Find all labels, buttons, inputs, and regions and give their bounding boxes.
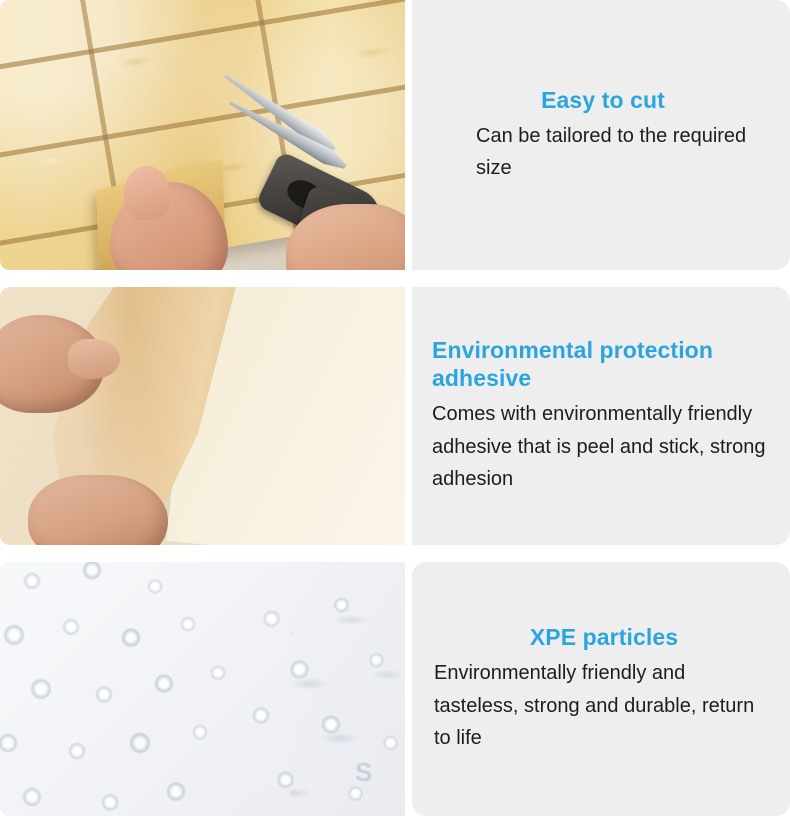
feature-text-card-adhesive: Environmental protection adhesive Comes …	[412, 287, 790, 545]
feature-text-card-easy-to-cut: Easy to cut Can be tailored to the requi…	[412, 0, 790, 270]
product-feature-page: Easy to cut Can be tailored to the requi…	[0, 0, 790, 816]
feature-row-easy-to-cut: Easy to cut Can be tailored to the requi…	[0, 0, 790, 270]
scattered-pellets	[240, 582, 405, 812]
feature-body: Environmentally friendly and tasteless, …	[434, 657, 774, 754]
feature-row-xpe-particles: S XPE particles Environmentally friendly…	[0, 562, 790, 816]
feature-heading: XPE particles	[434, 623, 774, 651]
feature-text-card-xpe-particles: XPE particles Environmentally friendly a…	[412, 562, 790, 816]
photo-xpe-pellets: S	[0, 562, 405, 816]
feature-row-environmental-protection-adhesive: Environmental protection adhesive Comes …	[0, 287, 790, 545]
scene-xpe-pellets: S	[0, 562, 405, 816]
feature-body: Comes with environmentally friendly adhe…	[432, 398, 774, 495]
scene-cutting-foam-panel	[0, 0, 405, 270]
feature-heading: Environmental protection adhesive	[432, 336, 774, 392]
image-watermark: S	[355, 757, 373, 788]
scene-peeling-adhesive	[0, 287, 405, 545]
photo-peeling-adhesive-backing	[0, 287, 405, 545]
feature-body: Can be tailored to the required size	[438, 120, 768, 185]
feature-heading: Easy to cut	[438, 86, 768, 114]
photo-cutting-foam-panel	[0, 0, 405, 270]
